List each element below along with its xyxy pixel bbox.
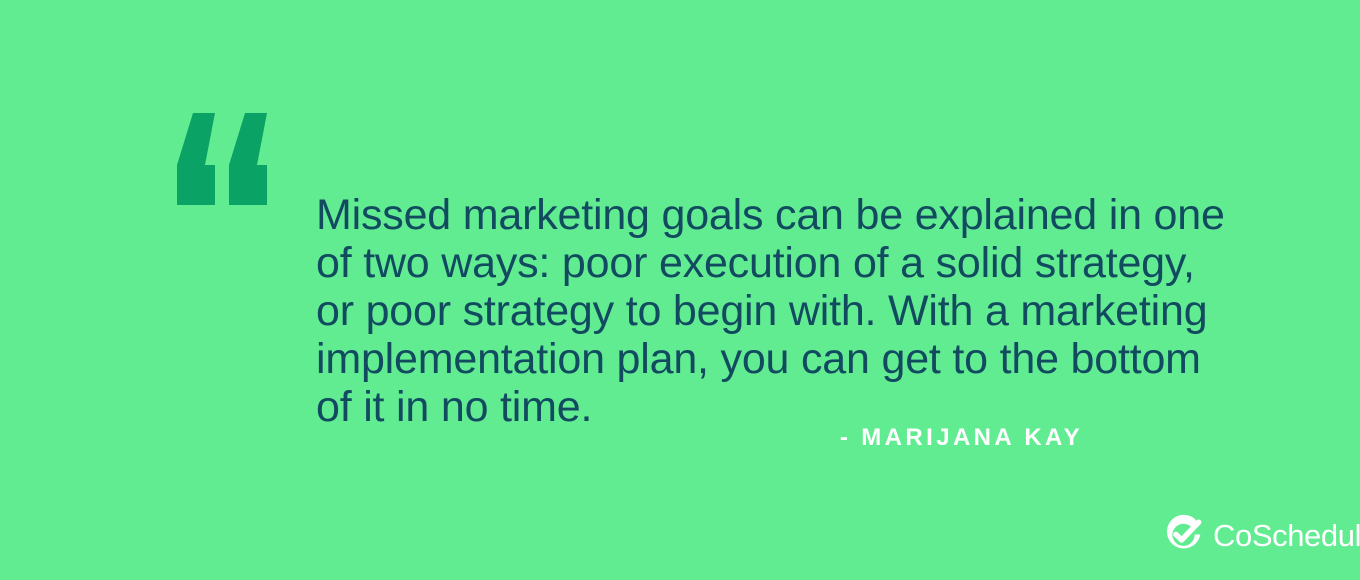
quote-line: or poor strategy to begin with. With a m… (316, 287, 1146, 335)
quote-line: implementation plan, you can get to the … (316, 335, 1146, 383)
coschedule-logo: CoSchedule (1163, 514, 1360, 555)
quote-text: Missed marketing goals can be explained … (316, 191, 1146, 431)
coschedule-check-circle-icon (1163, 514, 1204, 555)
coschedule-wordmark: CoSchedule (1213, 520, 1360, 551)
quote-line: Missed marketing goals can be explained … (316, 191, 1146, 239)
opening-quotation-mark-icon (177, 113, 269, 205)
quote-card: Missed marketing goals can be explained … (0, 0, 1360, 580)
quote-attribution: - MARIJANA KAY (0, 424, 1083, 452)
quote-line: of two ways: poor execution of a solid s… (316, 239, 1146, 287)
